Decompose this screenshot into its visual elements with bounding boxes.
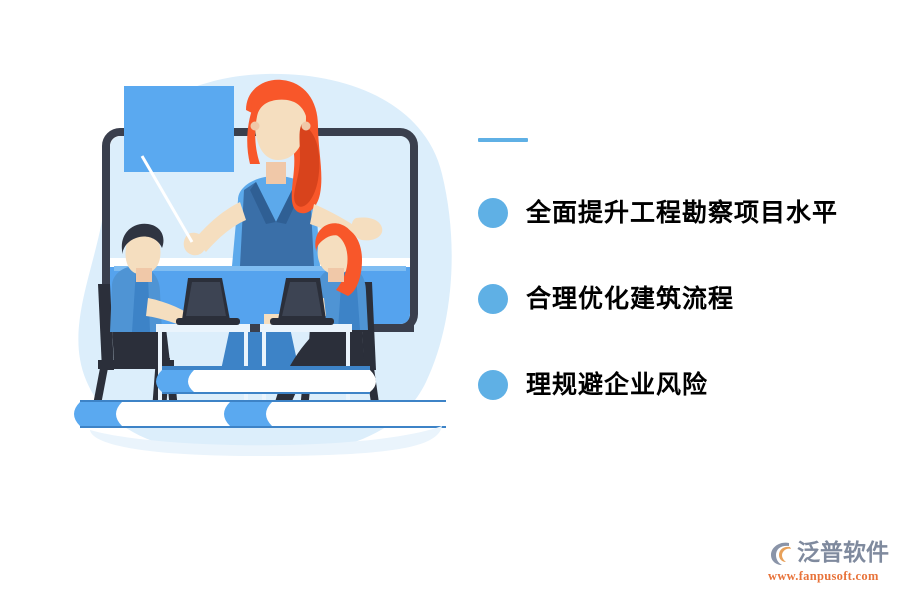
instructor-ear-left [251,122,260,131]
monitor-screen-divider-blue [114,266,406,271]
book-front-right-pages [260,402,452,426]
logo-wordmark: 泛普软件 [797,540,889,567]
instructor-ear-right [302,122,311,131]
book-front-left-spine [74,402,122,426]
page-root: 全面提升工程勘察项目水平 合理优化建筑流程 理规避企业风险 泛普软件 www.f… [0,0,900,600]
monitor-stand-neck [221,328,299,370]
feature-bullet-list: 全面提升工程勘察项目水平 合理优化建筑流程 理规避企业风险 [478,170,878,428]
desk-left-top [156,324,250,332]
feature-label: 全面提升工程勘察项目水平 [526,198,838,228]
fanpu-swoosh-icon [768,540,795,567]
student-right-neck [328,268,344,282]
whiteboard [124,86,234,172]
brand-logo: 泛普软件 www.fanpusoft.com [768,538,896,588]
bullet-dot-icon [478,284,508,314]
list-item: 理规避企业风险 [478,342,878,428]
bullet-dot-icon [478,198,508,228]
online-classroom-illustration [70,70,470,460]
bullet-dot-icon [478,370,508,400]
feature-label: 理规避企业风险 [526,370,708,400]
book-back-pages [182,370,376,392]
laptop-right-base [270,318,334,325]
list-item: 全面提升工程勘察项目水平 [478,170,878,256]
swoosh-arc [779,546,791,561]
feature-label: 合理优化建筑流程 [526,284,734,314]
logo-row: 泛普软件 [768,538,896,568]
feature-list-panel: 全面提升工程勘察项目水平 合理优化建筑流程 理规避企业风险 [478,130,878,428]
logo-url: www.fanpusoft.com [768,569,896,584]
laptop-left-screen-inner [186,282,226,316]
book-front-right-spine [224,402,272,426]
student-left-neck [136,268,152,282]
desk-right-top [260,324,352,332]
laptop-left-base [176,318,240,325]
instructor-neck [266,162,286,184]
list-item: 合理优化建筑流程 [478,256,878,342]
accent-rule [478,138,528,142]
